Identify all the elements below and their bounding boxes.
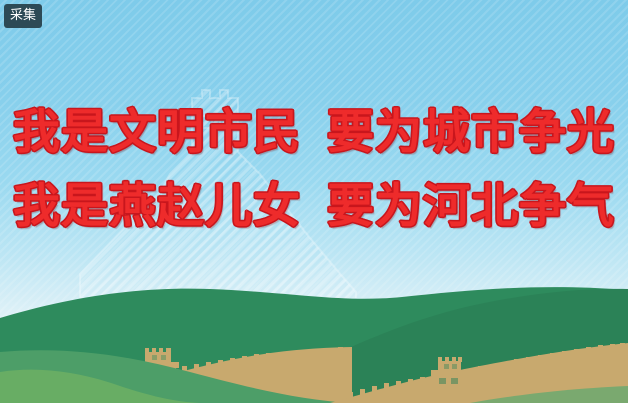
slogan-line-1: 我是文明市民要为城市争光	[0, 96, 628, 170]
slogan-line-2-right: 要为河北争气	[327, 179, 615, 234]
slogan-line-2-left: 我是燕赵儿女	[13, 179, 301, 234]
slogan-block: 我是文明市民要为城市争光 我是燕赵儿女要为河北争气	[0, 96, 628, 244]
slogan-line-1-right: 要为城市争光	[327, 105, 615, 160]
banner-screenshot: 我是文明市民要为城市争光 我是燕赵儿女要为河北争气 采集	[0, 0, 628, 403]
capture-button[interactable]: 采集	[4, 4, 42, 28]
slogan-line-1-left: 我是文明市民	[13, 105, 301, 160]
slogan-line-2: 我是燕赵儿女要为河北争气	[0, 170, 628, 244]
